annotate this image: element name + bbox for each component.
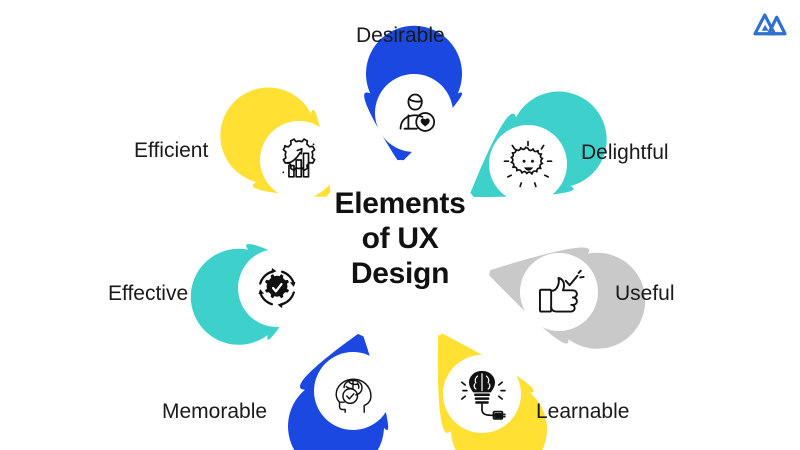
infographic-canvas: Elements of UX Design DesirableDelightfu… — [0, 0, 800, 450]
mountain-logo — [752, 8, 788, 40]
ring-inner-delightful — [489, 125, 567, 203]
node-label-effective: Effective — [108, 282, 188, 306]
ring-inner-memorable — [314, 352, 392, 430]
node-label-desirable: Desirable — [356, 24, 445, 48]
petal-cycle-diagram — [0, 0, 800, 450]
node-label-learnable: Learnable — [536, 400, 629, 424]
ring-inner-desirable — [375, 74, 453, 152]
node-label-efficient: Efficient — [134, 139, 208, 163]
node-label-delightful: Delightful — [581, 141, 669, 165]
ring-inner-useful — [520, 253, 598, 331]
center-hub — [308, 160, 492, 344]
node-label-useful: Useful — [615, 282, 675, 306]
node-label-memorable: Memorable — [162, 400, 267, 424]
